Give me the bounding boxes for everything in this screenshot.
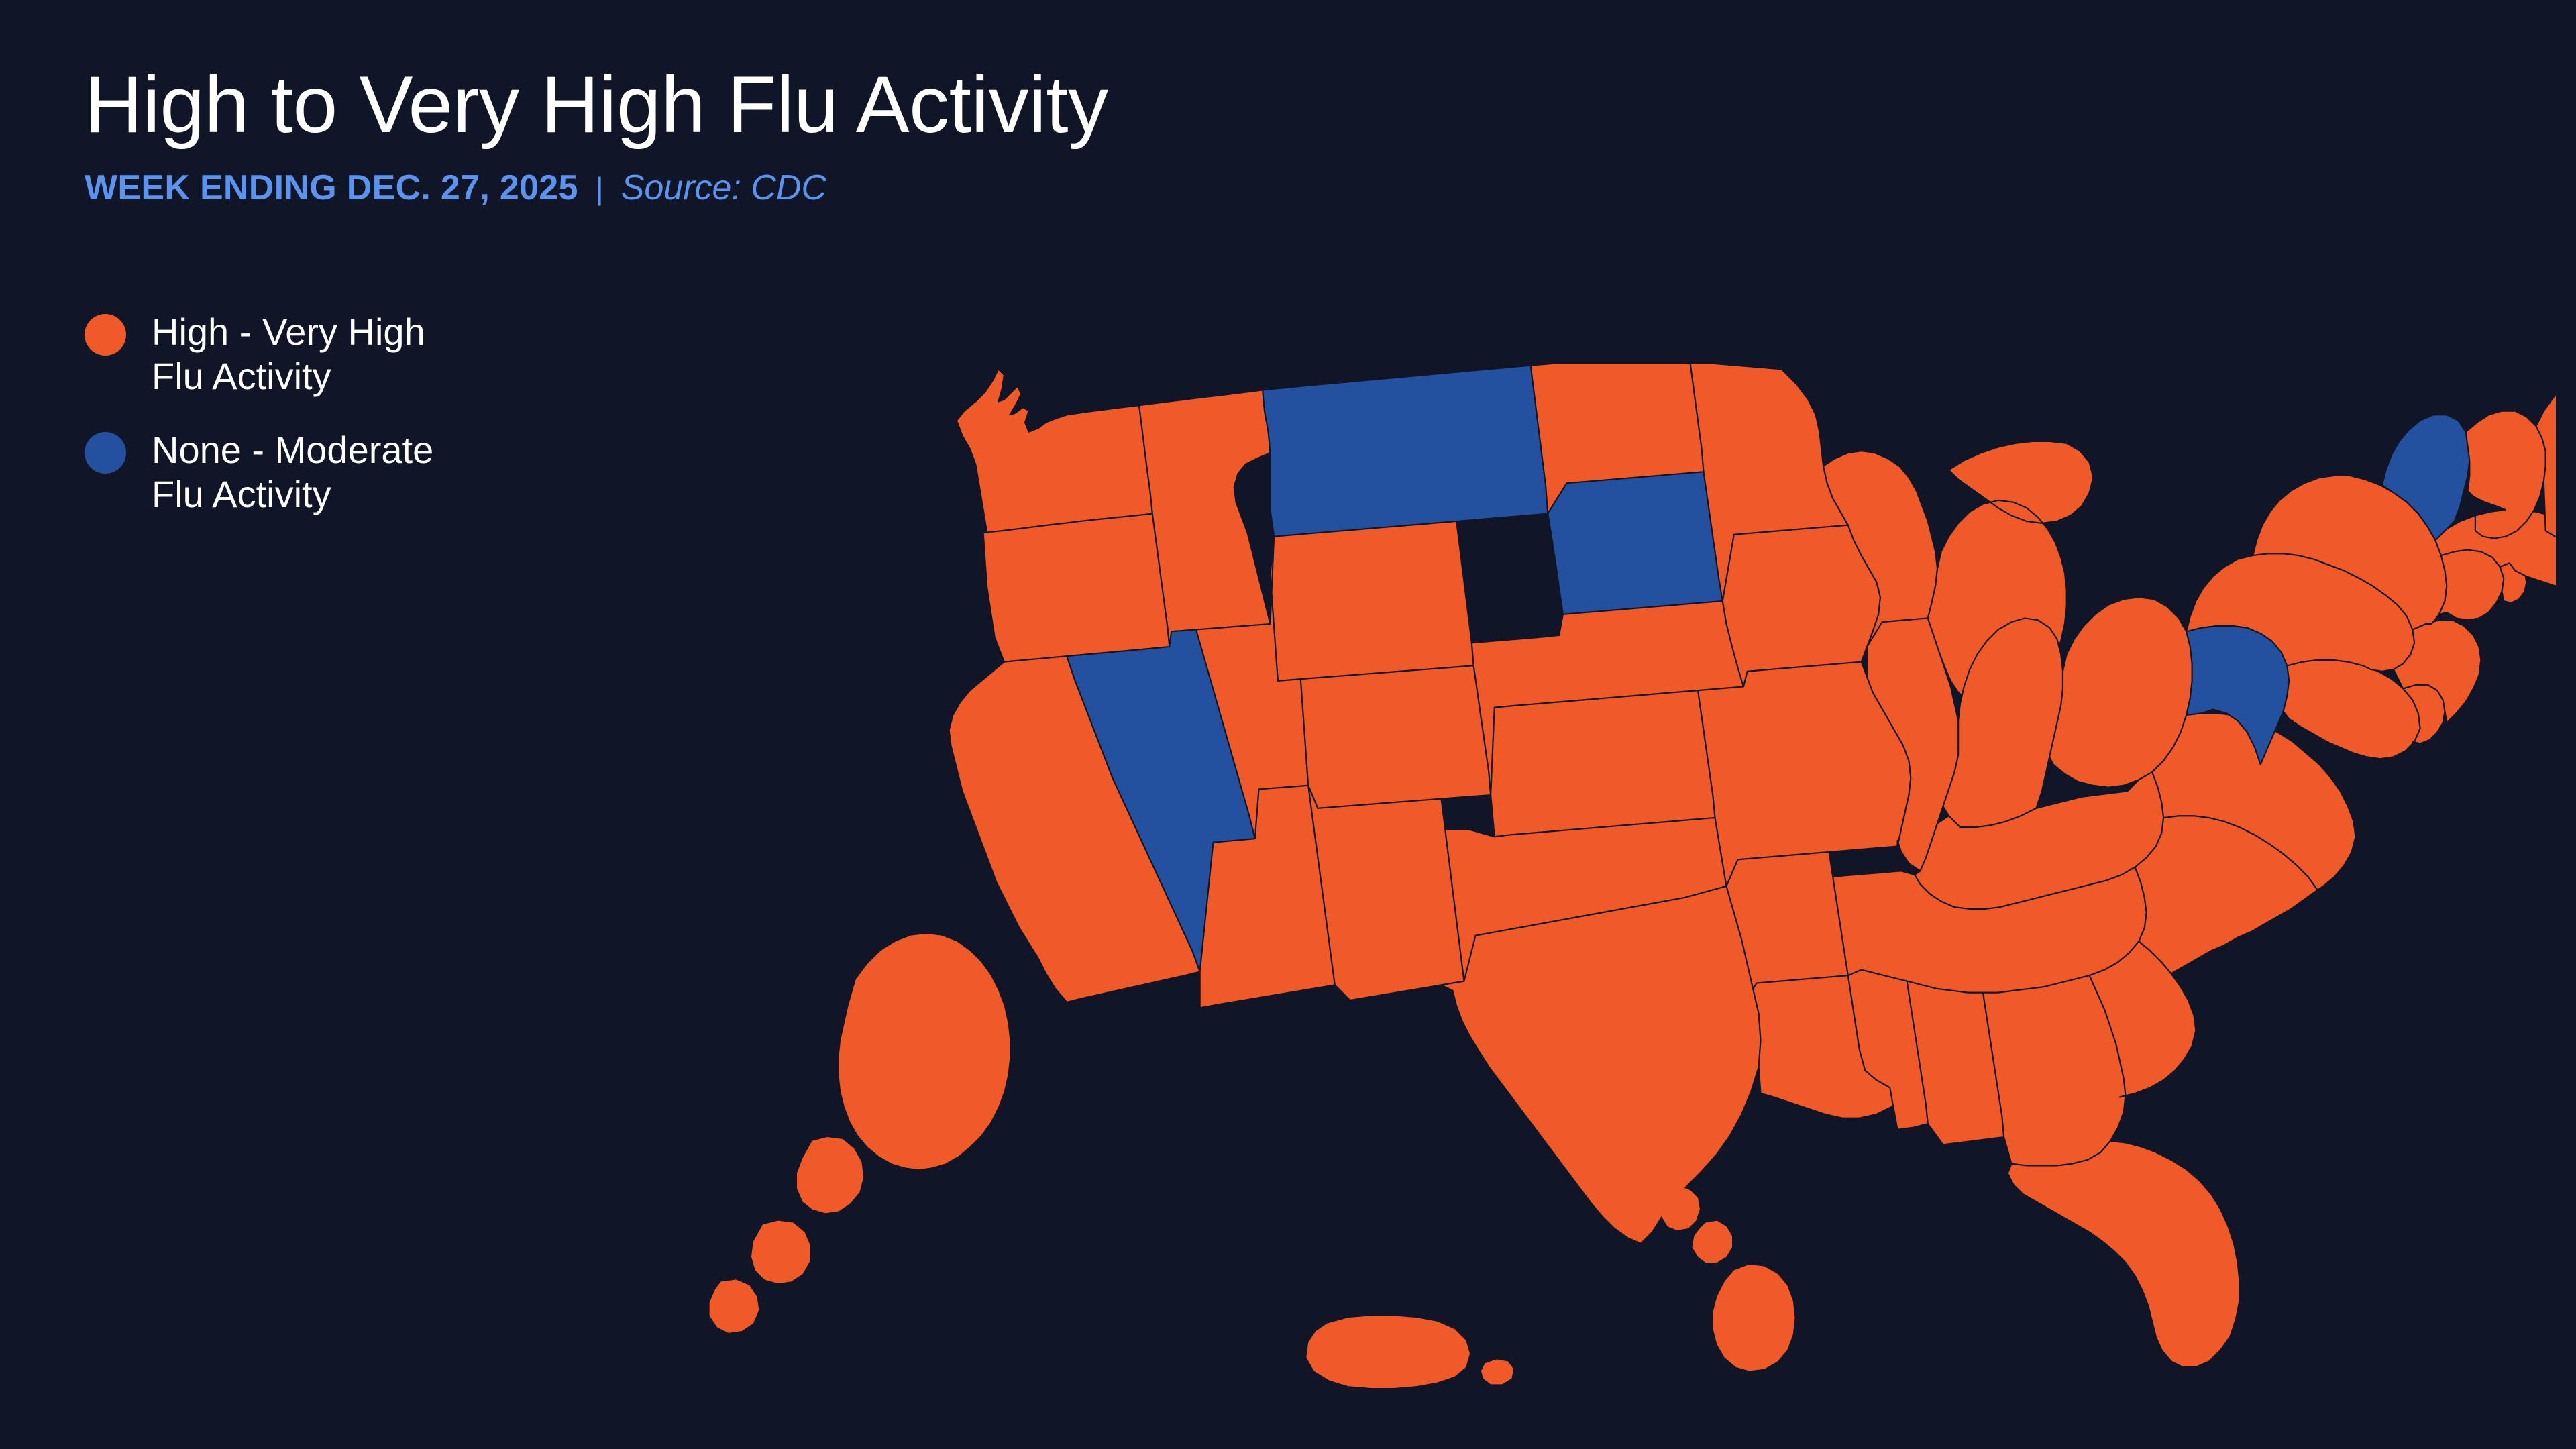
state-WA (957, 369, 1152, 533)
state-AK (710, 934, 1010, 1333)
states-group (710, 364, 2556, 1388)
state-KS (1491, 690, 1715, 837)
state-CO (1301, 665, 1491, 808)
state-OR (983, 514, 1170, 662)
subtitle: WEEK ENDING DEC. 27, 2025 | Source: CDC (85, 168, 1426, 208)
state-WY (1271, 521, 1474, 681)
state-FL (2008, 1141, 2240, 1367)
legend-label-high-very-high: High - Very High Flu Activity (152, 310, 425, 398)
united-states-choropleth (657, 282, 2556, 1422)
state-SD (1548, 472, 1723, 614)
legend-item-high-very-high: High - Very High Flu Activity (85, 310, 688, 398)
legend-swatch-blue-circle-icon (85, 432, 126, 474)
us-map-container (657, 282, 2556, 1422)
legend-swatch-orange-circle-icon (85, 314, 126, 356)
legend-item-none-moderate: None - Moderate Flu Activity (85, 428, 688, 517)
state-MT (1263, 366, 1548, 537)
state-PR (1306, 1316, 1513, 1388)
subtitle-source: Source: CDC (621, 168, 826, 208)
legend: High - Very High Flu Activity None - Mod… (85, 310, 688, 546)
page-title: High to Very High Flu Activity (85, 64, 1426, 145)
subtitle-week-ending: WEEK ENDING DEC. 27, 2025 (85, 168, 578, 208)
state-TX (1442, 886, 1761, 1244)
subtitle-separator: | (596, 170, 604, 207)
flu-activity-map-graphic: High to Very High Flu Activity WEEK ENDI… (0, 0, 2576, 1449)
header: High to Very High Flu Activity WEEK ENDI… (85, 64, 1426, 208)
legend-label-none-moderate: None - Moderate Flu Activity (152, 428, 433, 517)
